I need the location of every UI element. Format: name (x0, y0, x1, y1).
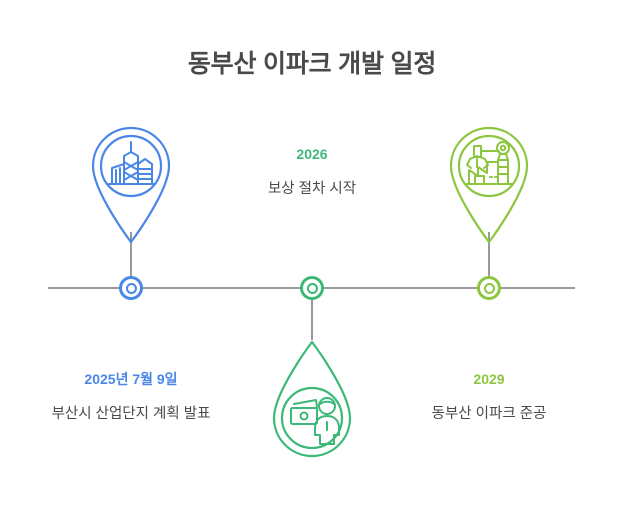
node-inner-ring-1 (126, 283, 137, 294)
milestone-1-date: 2025년 7월 9일 (11, 372, 251, 387)
node-milestone-2[interactable] (300, 276, 324, 300)
milestone-3-description: 동부산 이파크 준공 (369, 405, 609, 424)
label-milestone-3: 2029 동부산 이파크 준공 (369, 372, 609, 424)
pin-milestone-2[interactable] (260, 338, 364, 472)
page-title: 동부산 이파크 개발 일정 (0, 44, 624, 80)
label-milestone-1: 2025년 7월 9일 부산시 산업단지 계획 발표 (11, 372, 251, 424)
timeline-infographic: 동부산 이파크 개발 일정 (0, 0, 624, 516)
pin-milestone-3[interactable] (437, 112, 541, 246)
milestone-1-description: 부산시 산업단지 계획 발표 (11, 405, 251, 424)
pin-milestone-1[interactable] (79, 112, 183, 246)
label-milestone-2: 2026 보상 절차 시작 (192, 147, 432, 199)
node-milestone-1[interactable] (119, 276, 143, 300)
node-inner-ring-3 (484, 283, 495, 294)
milestone-2-date: 2026 (192, 147, 432, 162)
node-milestone-3[interactable] (477, 276, 501, 300)
node-inner-ring-2 (307, 283, 318, 294)
milestone-3-date: 2029 (369, 372, 609, 387)
milestone-2-description: 보상 절차 시작 (192, 180, 432, 199)
